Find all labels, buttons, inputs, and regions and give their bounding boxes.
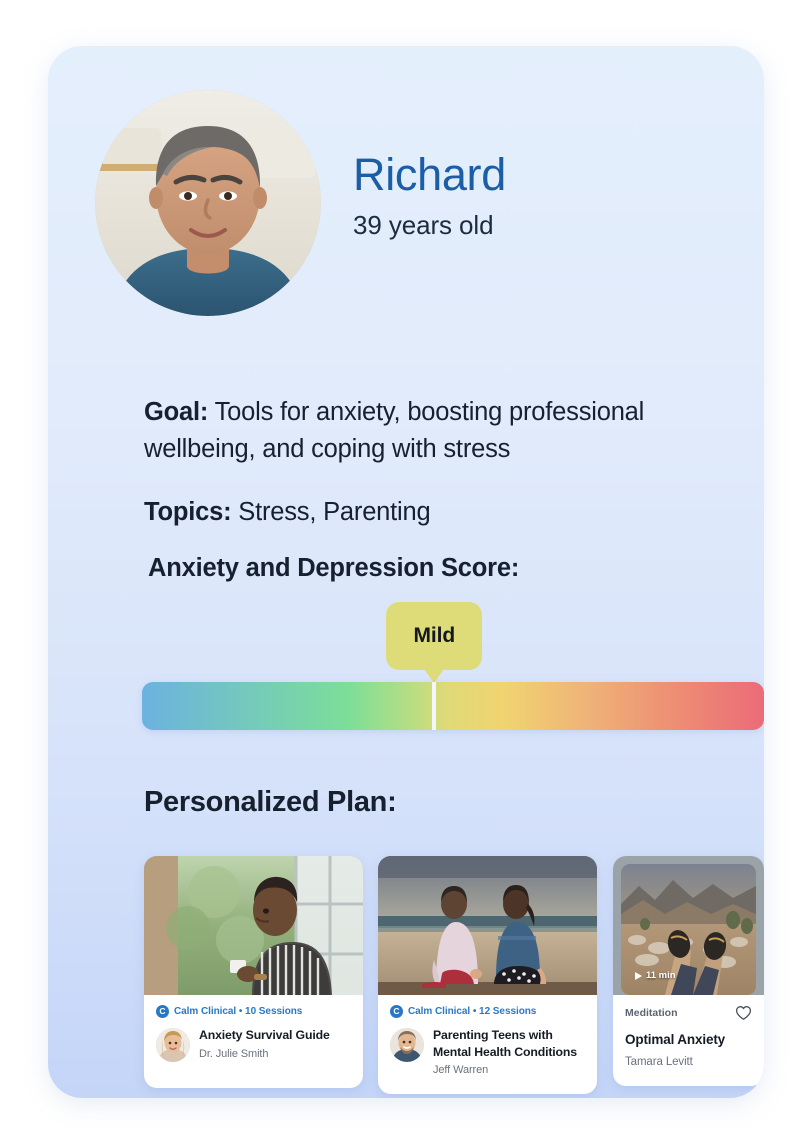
info-block: Goal: Tools for anxiety, boosting profes… [144,394,744,531]
heart-icon[interactable] [735,1005,752,1021]
card-author: Tamara Levitt [625,1056,752,1068]
video-duration-badge: 11 min [635,970,676,981]
card-title: Anxiety Survival Guide [199,1027,330,1044]
provider-row: C Calm Clinical • 10 Sessions [156,1005,351,1018]
title-row: Parenting Teens with Mental Health Condi… [390,1027,585,1076]
plan-card-optimal-anxiety[interactable]: 11 min Meditation Optimal Anxiety Tamara… [613,856,764,1086]
plan-heading: Personalized Plan: [144,786,396,819]
topics-text: Stress, Parenting [231,498,430,526]
author-avatar-photo [156,1028,190,1062]
title-row: Anxiety Survival Guide Dr. Julie Smith [156,1027,351,1062]
man-at-window-photo [144,856,363,995]
person-age: 39 years old [353,210,723,241]
card-author: Jeff Warren [433,1064,585,1076]
severity-marker-tooltip: Mild [386,602,482,670]
user-photo [95,90,321,316]
provider-text: Calm Clinical • 12 Sessions [408,1006,536,1017]
severity-gauge: Mild [142,602,764,732]
calm-clinical-logo-icon: C [390,1005,403,1018]
topics-line: Topics: Stress, Parenting [144,494,744,531]
card-title: Optimal Anxiety [625,1031,752,1049]
card-author: Dr. Julie Smith [199,1048,330,1060]
provider-text: Calm Clinical • 10 Sessions [174,1006,302,1017]
plan-card-anxiety-survival-guide[interactable]: C Calm Clinical • 10 Sessions [144,856,363,1088]
title-col: Anxiety Survival Guide Dr. Julie Smith [199,1027,330,1060]
profile-header: Richard 39 years old [95,90,725,322]
title-col: Parenting Teens with Mental Health Condi… [433,1027,585,1076]
meta-row: Meditation [625,1005,752,1021]
identity-block: Richard 39 years old [353,152,723,241]
hiker-legs-canyon-photo: 11 min [613,856,764,995]
card-body: C Calm Clinical • 10 Sessions [144,995,363,1062]
author-avatar-photo [390,1028,424,1062]
goal-label: Goal: [144,398,208,426]
video-duration-text: 11 min [646,970,676,981]
card-title: Parenting Teens with Mental Health Condi… [433,1027,585,1060]
plan-card-parenting-teens[interactable]: C Calm Clinical • 12 Sessions [378,856,597,1094]
topics-label: Topics: [144,498,231,526]
score-heading: Anxiety and Depression Score: [148,554,519,583]
profile-card: Richard 39 years old Goal: Tools for anx… [48,46,764,1098]
play-icon [635,972,642,980]
calm-clinical-logo-icon: C [156,1005,169,1018]
plan-card-list: C Calm Clinical • 10 Sessions [144,856,764,1094]
card-body: C Calm Clinical • 12 Sessions [378,995,597,1076]
severity-marker-label: Mild [414,624,456,648]
severity-gauge-bar [142,682,764,730]
goal-text: Tools for anxiety, boosting professional… [144,398,644,463]
goal-line: Goal: Tools for anxiety, boosting profes… [144,394,744,468]
person-name: Richard [353,152,723,198]
card-body: Meditation Optimal Anxiety Tamara Levitt [613,995,764,1068]
provider-row: C Calm Clinical • 12 Sessions [390,1005,585,1018]
title-col: Optimal Anxiety Tamara Levitt [625,1031,752,1068]
two-people-beach-photo [378,856,597,995]
content-kind-label: Meditation [625,1007,678,1019]
severity-gauge-notch [432,682,436,730]
